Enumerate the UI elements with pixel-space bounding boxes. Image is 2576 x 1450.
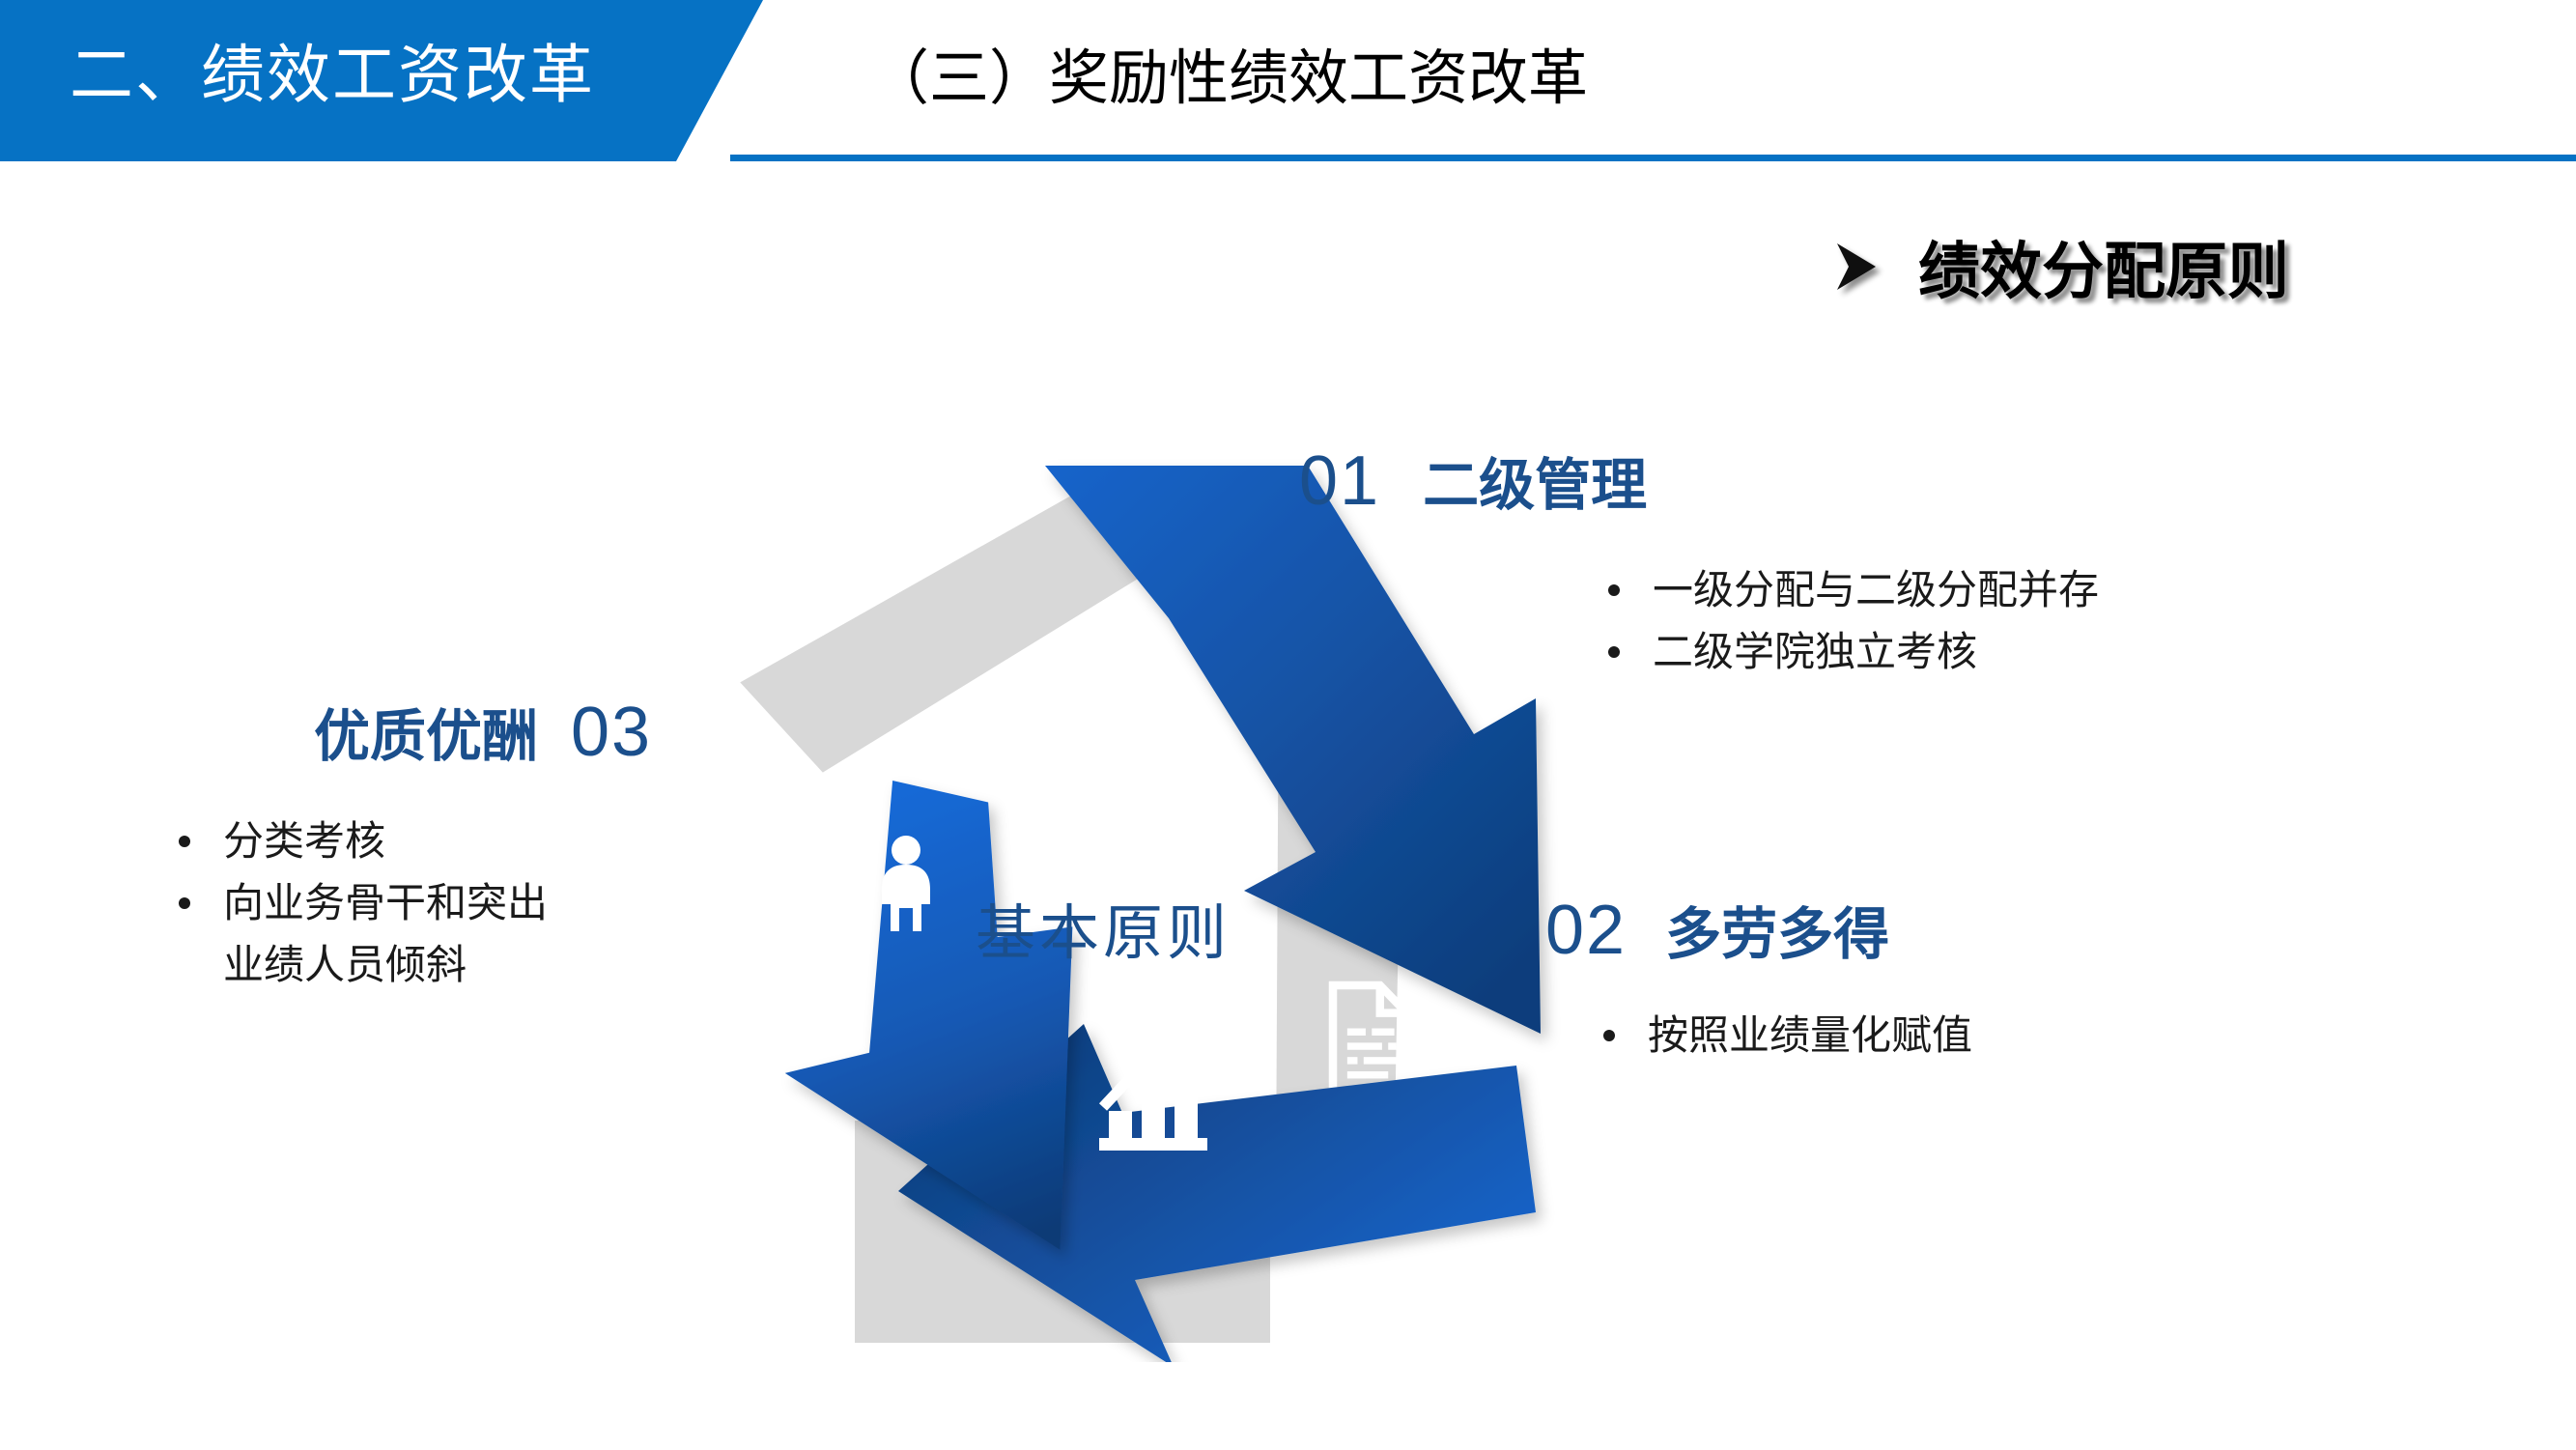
header-subtitle: （三）奖励性绩效工资改革 — [869, 29, 1588, 116]
arrow-right-triangle-icon — [1835, 242, 1878, 292]
list-item: 分类考核 — [179, 810, 884, 872]
bullet-text: 一级分配与二级分配并存 — [1653, 559, 2099, 621]
growth-chart-icon — [1099, 1051, 1207, 1151]
section-heading-label: 绩效分配原则 — [1918, 222, 2289, 311]
bullet-text: 按照业绩量化赋值 — [1648, 1005, 1972, 1066]
bullet-dot-icon — [1608, 646, 1620, 658]
block-03-bullet-list: 分类考核 向业务骨干和突出 业绩人员倾斜 — [179, 810, 884, 995]
bullet-dot-icon — [179, 897, 190, 909]
block-02-title: 多劳多得 — [1665, 889, 1889, 970]
block-01-bullet-list: 一级分配与二级分配并存 二级学院独立考核 — [1608, 559, 2149, 683]
slide-canvas: 二、绩效工资改革 （三）奖励性绩效工资改革 绩效分配原则 — [0, 0, 2576, 1450]
block-03-head: 优质优酬 03 — [169, 691, 884, 772]
header-banner: 二、绩效工资改革 — [0, 0, 763, 161]
bullet-dot-icon — [1608, 584, 1620, 596]
list-item: 按照业绩量化赋值 — [1603, 1005, 2415, 1066]
principle-block-01: 01 二级管理 一级分配与二级分配并存 二级学院独立考核 — [1299, 440, 2149, 683]
block-03-number: 03 — [571, 693, 652, 772]
list-item: 一级分配与二级分配并存 — [1608, 559, 2149, 621]
block-01-title: 二级管理 — [1423, 440, 1647, 521]
header-banner-title: 二、绩效工资改革 — [70, 23, 595, 116]
list-item: 二级学院独立考核 — [1608, 621, 2149, 683]
block-01-number: 01 — [1299, 441, 1380, 521]
bullet-dot-icon — [179, 836, 190, 847]
bullet-text: 向业务骨干和突出 业绩人员倾斜 — [223, 872, 548, 996]
block-03-title: 优质优酬 — [314, 691, 538, 772]
principle-block-03: 优质优酬 03 分类考核 向业务骨干和突出 业绩人员倾斜 — [169, 691, 884, 995]
bullet-text: 二级学院独立考核 — [1653, 621, 1977, 683]
section-heading: 绩效分配原则 — [1835, 222, 2289, 311]
block-02-number: 02 — [1545, 891, 1627, 970]
bullet-dot-icon — [1603, 1030, 1615, 1041]
principle-block-02: 02 多劳多得 按照业绩量化赋值 — [1545, 889, 2415, 1066]
list-item: 向业务骨干和突出 业绩人员倾斜 — [179, 872, 884, 996]
block-02-bullet-list: 按照业绩量化赋值 — [1603, 1005, 2415, 1066]
block-02-head: 02 多劳多得 — [1545, 889, 2415, 970]
header-underline-rule — [730, 155, 2576, 161]
bullet-text: 分类考核 — [223, 810, 385, 872]
block-01-head: 01 二级管理 — [1299, 440, 2149, 521]
diagram-center-label: 基本原则 — [976, 884, 1231, 971]
